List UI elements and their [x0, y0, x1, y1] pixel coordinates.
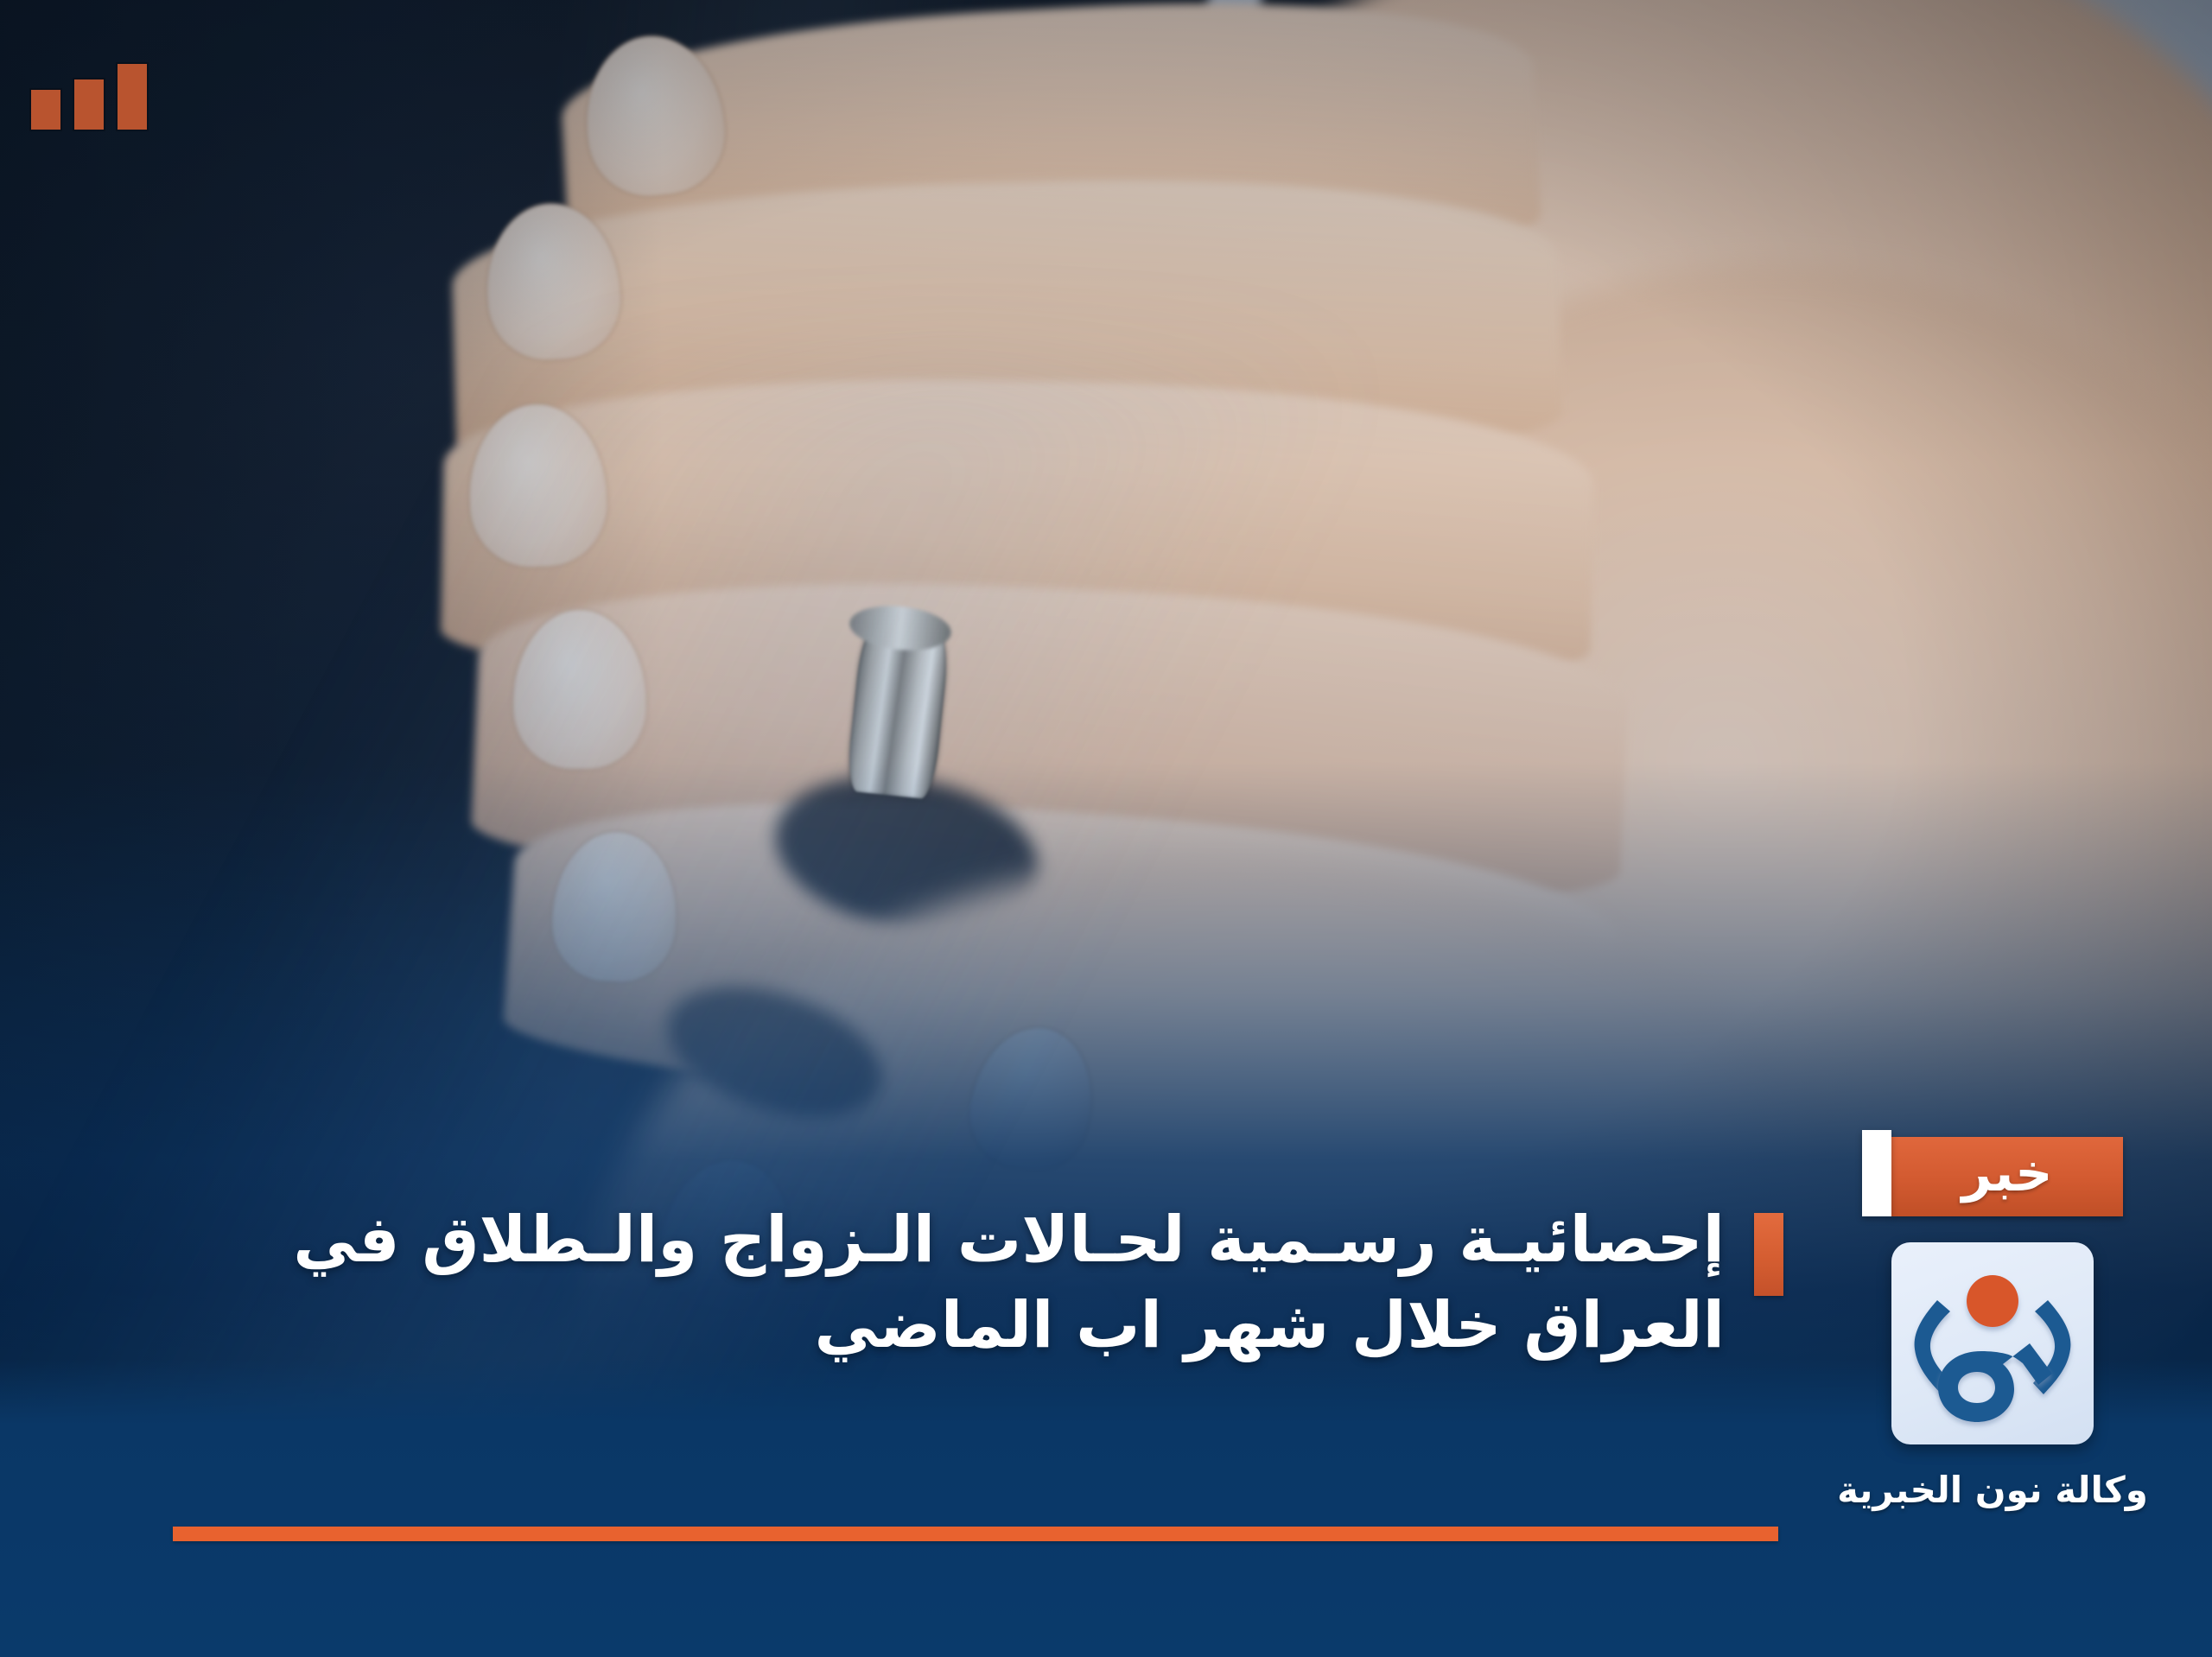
- headline-text: إحصائيـة رسـمية لحـالات الـزواج والـطلاق…: [138, 1197, 1725, 1368]
- brand-column: خبر: [1828, 1137, 2157, 1512]
- agency-name-label: وكالة نون الخبرية: [1837, 1469, 2148, 1512]
- news-badge: خبر: [1862, 1137, 2123, 1216]
- noon-figure-icon: [1891, 1242, 2094, 1444]
- news-badge-white-tab: [1862, 1130, 1891, 1216]
- logo-head-circle: [1967, 1275, 2018, 1327]
- card-content: إحصائيـة رسـمية لحـالات الـزواج والـطلاق…: [0, 0, 2212, 1657]
- news-badge-label: خبر: [1961, 1147, 2052, 1206]
- headline-block: إحصائيـة رسـمية لحـالات الـزواج والـطلاق…: [138, 1197, 1783, 1368]
- news-badge-fill: خبر: [1891, 1137, 2123, 1216]
- news-card: إحصائيـة رسـمية لحـالات الـزواج والـطلاق…: [0, 0, 2212, 1657]
- agency-logo: [1891, 1242, 2094, 1444]
- headline-underline-rule: [173, 1527, 1778, 1541]
- headline-accent-bar: [1754, 1213, 1783, 1296]
